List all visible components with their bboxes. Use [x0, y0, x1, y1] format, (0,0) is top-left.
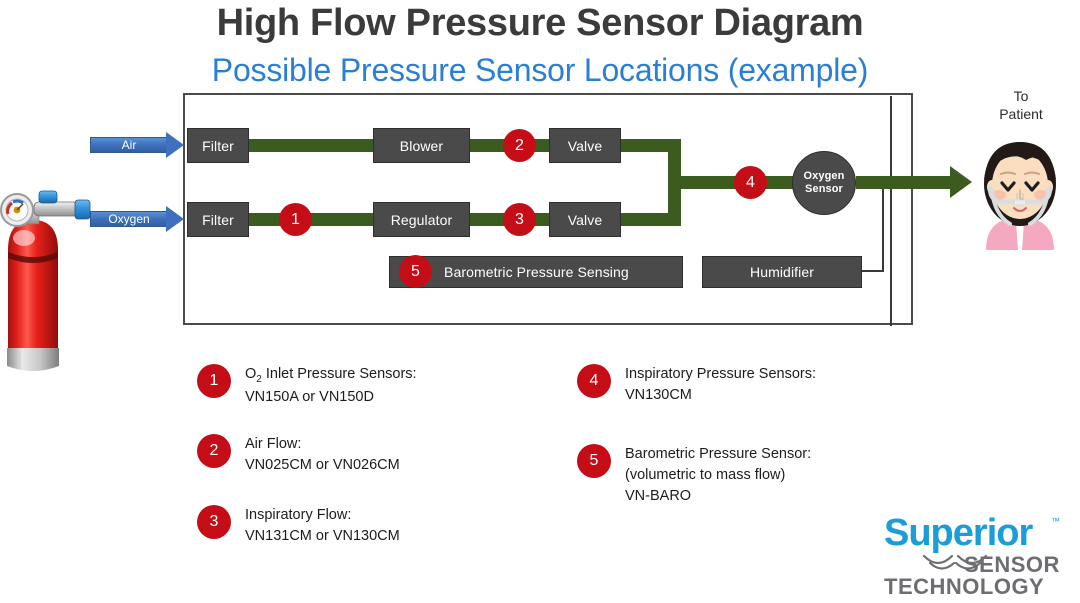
block-valve-air-label: Valve — [568, 138, 602, 154]
connector-barometric-vertical — [890, 96, 892, 326]
pipe-sensor-to-patient — [856, 176, 952, 189]
logo-trademark-symbol: ™ — [1051, 516, 1060, 526]
legend-text-4: Inspiratory Pressure Sensors: VN130CM — [625, 364, 816, 406]
diagram-badge-1[interactable]: 1 — [279, 203, 312, 236]
page-title: High Flow Pressure Sensor Diagram — [0, 2, 1080, 45]
connector-humidifier-vertical — [882, 183, 884, 272]
legend-3-line2: VN131CM or VN130CM — [245, 526, 400, 547]
to-patient-line2: Patient — [975, 106, 1067, 124]
legend-badge-3-number: 3 — [210, 513, 219, 531]
oxygen-sensor-label-line1: Oxygen — [804, 170, 845, 183]
legend-3-line1: Inspiratory Flow: — [245, 505, 400, 526]
legend-badge-1-number: 1 — [210, 372, 219, 390]
legend-badge-2[interactable]: 2 — [197, 434, 231, 468]
block-blower[interactable]: Blower — [373, 128, 470, 163]
block-barometric-label: Barometric Pressure Sensing — [444, 264, 629, 280]
block-valve-oxygen-label: Valve — [568, 212, 602, 228]
legend-5-line3: VN-BARO — [625, 486, 811, 507]
slide-canvas: High Flow Pressure Sensor Diagram Possib… — [0, 0, 1080, 603]
to-patient-label: To Patient — [975, 88, 1067, 123]
block-blower-label: Blower — [400, 138, 443, 154]
legend-2-line1: Air Flow: — [245, 434, 400, 455]
legend-1-line2: VN150A or VN150D — [245, 387, 417, 408]
block-filter-air-label: Filter — [202, 138, 234, 154]
legend-text-1: O2 Inlet Pressure Sensors: VN150A or VN1… — [245, 364, 417, 408]
diagram-badge-1-number: 1 — [291, 211, 300, 229]
legend-badge-2-number: 2 — [210, 442, 219, 460]
diagram-badge-4-number: 4 — [746, 174, 755, 192]
block-filter-oxygen[interactable]: Filter — [187, 202, 249, 237]
diagram-badge-2[interactable]: 2 — [503, 129, 536, 162]
legend-text-2: Air Flow: VN025CM or VN026CM — [245, 434, 400, 476]
block-filter-oxygen-label: Filter — [202, 212, 234, 228]
legend-text-3: Inspiratory Flow: VN131CM or VN130CM — [245, 505, 400, 547]
logo-superior-text: Superior — [884, 512, 1032, 555]
diagram-badge-2-number: 2 — [515, 137, 524, 155]
connector-humidifier-horizontal — [862, 270, 884, 272]
diagram-badge-5-number: 5 — [411, 263, 420, 281]
diagram-badge-5[interactable]: 5 — [399, 255, 432, 288]
oxygen-input-arrow: Oxygen — [90, 206, 186, 232]
diagram-badge-4[interactable]: 4 — [734, 166, 767, 199]
page-subtitle: Possible Pressure Sensor Locations (exam… — [0, 52, 1080, 89]
block-valve-air[interactable]: Valve — [549, 128, 621, 163]
block-filter-air[interactable]: Filter — [187, 128, 249, 163]
company-logo: Superior ™ SENSOR TECHNOLOGY — [884, 512, 1076, 600]
legend-5-line2: (volumetric to mass flow) — [625, 465, 811, 486]
block-humidifier-label: Humidifier — [750, 264, 814, 280]
block-regulator[interactable]: Regulator — [373, 202, 470, 237]
diagram-badge-3[interactable]: 3 — [503, 203, 536, 236]
logo-technology-text: TECHNOLOGY — [884, 574, 1044, 600]
patient-illustration — [968, 130, 1072, 250]
legend-2-line2: VN025CM or VN026CM — [245, 455, 400, 476]
oxygen-input-label: Oxygen — [90, 206, 168, 232]
legend-badge-5[interactable]: 5 — [577, 444, 611, 478]
block-regulator-label: Regulator — [391, 212, 453, 228]
to-patient-line1: To — [975, 88, 1067, 106]
legend-1-line1: O2 Inlet Pressure Sensors: — [245, 364, 417, 387]
oxygen-sensor-label-line2: Sensor — [805, 183, 843, 196]
block-oxygen-sensor[interactable]: Oxygen Sensor — [792, 151, 856, 215]
diagram-badge-3-number: 3 — [515, 211, 524, 229]
air-input-arrow: Air — [90, 132, 186, 158]
air-input-label: Air — [90, 132, 168, 158]
legend-5-line1: Barometric Pressure Sensor: — [625, 444, 811, 465]
legend-text-5: Barometric Pressure Sensor: (volumetric … — [625, 444, 811, 507]
legend-badge-4[interactable]: 4 — [577, 364, 611, 398]
block-valve-oxygen[interactable]: Valve — [549, 202, 621, 237]
legend-badge-4-number: 4 — [590, 372, 599, 390]
block-barometric-pressure-sensing[interactable]: Barometric Pressure Sensing — [389, 256, 683, 288]
legend-4-line2: VN130CM — [625, 385, 816, 406]
legend-badge-1[interactable]: 1 — [197, 364, 231, 398]
pipe-air-filter-to-blower — [245, 139, 377, 152]
legend-badge-3[interactable]: 3 — [197, 505, 231, 539]
pipe-merge-vertical — [668, 139, 681, 226]
legend-4-line1: Inspiratory Pressure Sensors: — [625, 364, 816, 385]
legend-badge-5-number: 5 — [590, 452, 599, 470]
block-humidifier[interactable]: Humidifier — [702, 256, 862, 288]
